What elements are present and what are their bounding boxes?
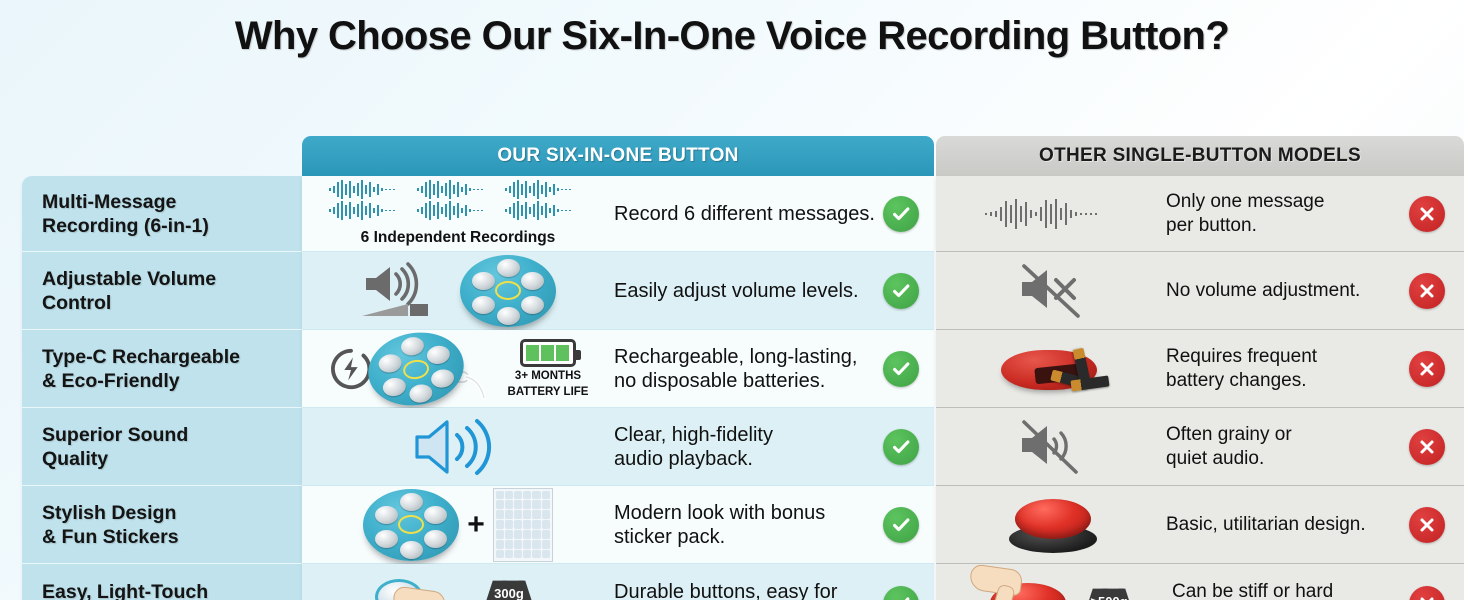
ours-mark: [878, 196, 924, 232]
column-header-ours: OUR SIX-IN-ONE BUTTON: [302, 136, 934, 176]
battery-life-group: 3+ MONTHS BATTERY LIFE: [500, 339, 596, 399]
column-header-others-label: OTHER SINGLE-BUTTON MODELS: [1039, 145, 1361, 167]
check-icon: [883, 273, 919, 309]
light-touch-visual: 300g Force (Pet-Friendly): [308, 564, 608, 600]
others-limitation-line1: Can be stiff or hard: [1172, 580, 1404, 600]
others-column: Only one message per button. No volume a…: [936, 176, 1464, 600]
cross-icon: [1409, 507, 1445, 543]
check-icon: [883, 196, 919, 232]
cross-icon: [1409, 351, 1445, 387]
feature-label-line2: Quality: [42, 447, 188, 471]
red-buzzer-button-icon: [1005, 497, 1101, 553]
check-icon: [883, 351, 919, 387]
waveform-caption: 6 Independent Recordings: [327, 229, 589, 247]
battery-icon: [520, 339, 576, 367]
muted-speaker-visual: [944, 252, 1162, 329]
cross-icon: [1409, 273, 1445, 309]
ours-benefit-text: Durable buttons, easy for all to press.: [608, 580, 878, 600]
cross-icon: [1409, 586, 1445, 600]
feature-label-line1: Adjustable Volume: [42, 267, 216, 291]
ours-benefit-line2: no disposable batteries.: [614, 369, 878, 393]
column-header-ours-label: OUR SIX-IN-ONE BUTTON: [497, 145, 738, 167]
ours-mark: [878, 351, 924, 387]
ours-column: 6 Independent Recordings Record 6 differ…: [302, 176, 934, 600]
ours-cell-sound-quality: Clear, high-fidelity audio playback.: [302, 408, 934, 486]
comparison-table: OUR SIX-IN-ONE BUTTON OTHER SINGLE-BUTTO…: [0, 62, 1464, 600]
ours-benefit-text: Modern look with bonus sticker pack.: [608, 501, 878, 549]
others-mark: [1404, 351, 1450, 387]
six-in-one-device-stickers-icon: [363, 489, 459, 561]
finger-press-hard-group: [974, 569, 1078, 600]
others-cell-multi-message: Only one message per button.: [936, 176, 1464, 252]
plain-red-button-visual: [944, 486, 1162, 563]
six-waveforms-icon: [327, 180, 589, 222]
force-300g-group: 300g Force (Pet-Friendly): [469, 572, 550, 600]
hard-press-visual: >500g Force: [944, 564, 1168, 600]
check-icon: [883, 586, 919, 600]
single-waveform-icon: [983, 197, 1123, 231]
others-limitation-line1: Often grainy or: [1166, 423, 1404, 447]
feature-label-line1: Multi-Message: [42, 190, 209, 214]
others-cell-batteries: Requires frequent battery changes.: [936, 330, 1464, 408]
ours-cell-design: + Modern look with bonus sticker pack.: [302, 486, 934, 564]
check-icon: [883, 507, 919, 543]
feature-label-line2: Recording (6-in-1): [42, 214, 209, 238]
ours-benefit-line1: Durable buttons, easy for: [614, 580, 878, 600]
feature-cell-multi-message: Multi-Message Recording (6-in-1): [22, 176, 302, 252]
others-limitation-text: Can be stiff or hard to activate.: [1168, 580, 1404, 600]
feature-cell-activation: Easy, Light-Touch Activation: [22, 564, 302, 600]
ours-benefit-text: Clear, high-fidelity audio playback.: [608, 423, 878, 471]
feature-cell-volume: Adjustable Volume Control: [22, 252, 302, 330]
feature-label-line1: Stylish Design: [42, 501, 179, 525]
check-icon: [883, 429, 919, 465]
ours-benefit-text: Easily adjust volume levels.: [608, 279, 878, 303]
finger-press-group: [367, 571, 463, 600]
feature-column: Multi-Message Recording (6-in-1) Adjusta…: [22, 176, 302, 600]
speaker-muted-x-icon: [1016, 262, 1090, 320]
plus-symbol: +: [467, 508, 485, 542]
feature-label-line2: & Fun Stickers: [42, 525, 179, 549]
others-limitation-text: Requires frequent battery changes.: [1162, 345, 1404, 393]
column-header-others: OTHER SINGLE-BUTTON MODELS: [936, 136, 1464, 176]
battery-caption-line2: BATTERY LIFE: [500, 386, 596, 399]
force-500g-group: >500g Force: [1080, 580, 1138, 600]
others-mark: [1404, 196, 1450, 232]
ours-mark: [878, 273, 924, 309]
others-limitation-line2: battery changes.: [1166, 369, 1404, 393]
others-limitation-line2: per button.: [1166, 214, 1404, 238]
ours-mark: [878, 429, 924, 465]
ours-mark: [878, 507, 924, 543]
battery-caption-line1: 3+ MONTHS: [500, 370, 596, 383]
battery-replacement-visual: [944, 330, 1162, 407]
feature-cell-sound-quality: Superior Sound Quality: [22, 408, 302, 486]
ours-benefit-line2: sticker pack.: [614, 525, 878, 549]
ours-cell-rechargeable: 3+ MONTHS BATTERY LIFE Rechargeable, lon…: [302, 330, 934, 408]
charging-visual: 3+ MONTHS BATTERY LIFE: [308, 330, 608, 407]
others-limitation-text: No volume adjustment.: [1162, 279, 1404, 303]
weight-icon: 300g Force: [480, 572, 538, 600]
ours-benefit-text: Rechargeable, long-lasting, no disposabl…: [608, 345, 878, 393]
others-limitation-text: Often grainy or quiet audio.: [1162, 423, 1404, 471]
others-mark: [1404, 507, 1450, 543]
ours-benefit-line1: Clear, high-fidelity: [614, 423, 878, 447]
feature-label-line2: & Eco-Friendly: [42, 369, 240, 393]
others-limitation-line1: Requires frequent: [1166, 345, 1404, 369]
single-waveform-visual: [944, 176, 1162, 251]
sticker-sheet-icon: [493, 488, 553, 562]
red-button-with-batteries-icon: [1001, 344, 1105, 394]
feature-label-line2: Control: [42, 291, 216, 315]
volume-visual: [308, 252, 608, 329]
hand-pointing-icon: [970, 565, 1040, 600]
others-cell-design: Basic, utilitarian design.: [936, 486, 1464, 564]
page-title: Why Choose Our Six-In-One Voice Recordin…: [0, 0, 1464, 62]
feature-cell-design: Stylish Design & Fun Stickers: [22, 486, 302, 564]
feature-label-line1: Type-C Rechargeable: [42, 345, 240, 369]
speaker-hifi-icon: [409, 415, 507, 479]
feature-cell-rechargeable: Type-C Rechargeable & Eco-Friendly: [22, 330, 302, 408]
others-limitation-text: Basic, utilitarian design.: [1162, 513, 1404, 537]
ours-cell-volume: Easily adjust volume levels.: [302, 252, 934, 330]
sound-quality-visual: [308, 408, 608, 485]
others-cell-sound-quality: Often grainy or quiet audio.: [936, 408, 1464, 486]
others-limitation-line1: Only one message: [1166, 190, 1404, 214]
ours-benefit-text: Record 6 different messages.: [608, 202, 878, 226]
cross-icon: [1409, 196, 1445, 232]
ours-benefit-line1: Modern look with bonus: [614, 501, 878, 525]
force-unit: Force: [491, 591, 526, 600]
others-limitation-text: Only one message per button.: [1162, 190, 1404, 238]
others-limitation-line2: quiet audio.: [1166, 447, 1404, 471]
waveform-group-icon: 6 Independent Recordings: [308, 176, 608, 251]
others-cell-volume: No volume adjustment.: [936, 252, 1464, 330]
ours-mark: [878, 586, 924, 600]
weight-icon: >500g Force: [1080, 580, 1138, 600]
ours-cell-multi-message: 6 Independent Recordings Record 6 differ…: [302, 176, 934, 252]
speaker-muted-icon: [1016, 418, 1090, 476]
ours-benefit-line2: audio playback.: [614, 447, 878, 471]
ours-cell-activation: 300g Force (Pet-Friendly) Durable button…: [302, 564, 934, 600]
feature-label-line1: Easy, Light-Touch: [42, 580, 208, 600]
charging-bolt-icon: [328, 346, 374, 392]
others-mark: [1404, 429, 1450, 465]
design-visual: +: [308, 486, 608, 563]
feature-label-line1: Superior Sound: [42, 423, 188, 447]
six-in-one-device-icon: [460, 255, 556, 327]
speaker-volume-up-icon: [360, 260, 438, 322]
others-mark: [1404, 273, 1450, 309]
hand-pointing-icon: [393, 587, 463, 600]
others-mark: [1404, 586, 1450, 600]
force-value: >500g: [1090, 586, 1127, 600]
muted-speaker-waves-visual: [944, 408, 1162, 485]
cross-icon: [1409, 429, 1445, 465]
ours-benefit-line1: Rechargeable, long-lasting,: [614, 345, 878, 369]
others-cell-activation: >500g Force Can be stiff or hard to acti…: [936, 564, 1464, 600]
